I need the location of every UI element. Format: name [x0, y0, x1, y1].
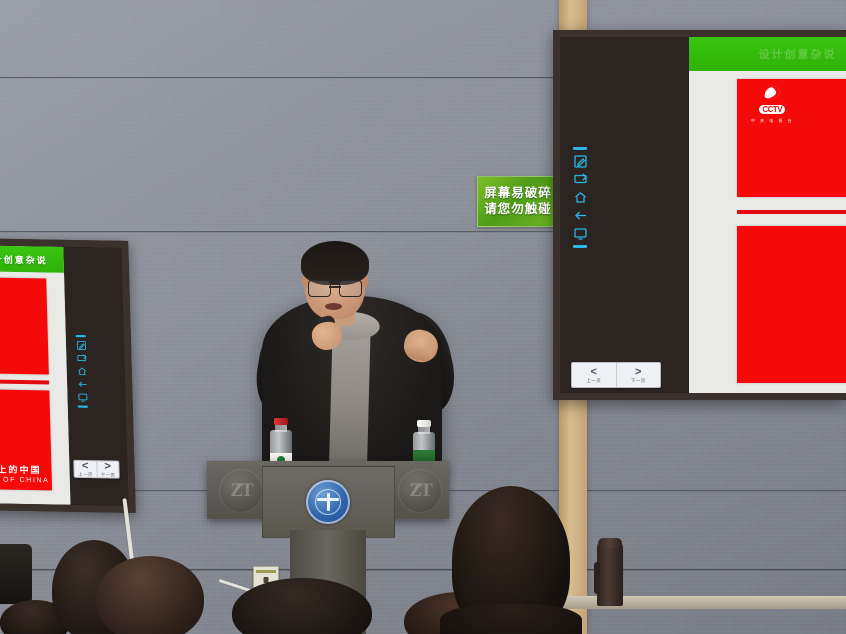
cctv-wordmark: CCTV [759, 105, 785, 114]
left-display[interactable]: 设计创意杂说 舌尖上的中国 A BITE OF CHINA [0, 238, 136, 513]
university-crest [306, 480, 350, 524]
warning-line-2: 请您勿触碰 [484, 203, 552, 216]
divider-top-icon [573, 147, 587, 150]
divider-bottom-icon [573, 245, 587, 248]
lecture-hall-photo: 屏幕易破碎 请您勿触碰 设计创意杂说 舌尖上的中国 A BITE OF CHIN… [0, 0, 846, 634]
cctv-logo: CCTV 中 央 电 视 台 [751, 87, 793, 124]
right-next-label: 下一页 [631, 378, 646, 384]
podium-logo-text: ZT [409, 480, 430, 502]
bottle-cap [274, 418, 288, 425]
cctv-moon-icon [763, 85, 781, 100]
left-prev-label: 上一页 [78, 471, 93, 477]
right-slide-title: 设计创意杂说 [759, 46, 837, 62]
back-arrow-icon[interactable] [77, 380, 87, 390]
left-footer-cn: 舌尖上的中国 [0, 462, 52, 476]
right-slide-body: CCTV 中 央 电 视 台 [689, 71, 846, 393]
glasses-lens [308, 280, 331, 297]
annotate-icon[interactable] [574, 155, 587, 168]
right-slide-header: 设计创意杂说 [689, 37, 846, 71]
crest-mark [317, 493, 339, 511]
glasses-lens [339, 280, 362, 297]
bottle-cap [417, 420, 431, 427]
left-slide-title: 设计创意杂说 [0, 252, 48, 266]
podium-logo-right: ZT [398, 469, 442, 513]
podium-logo-text: ZT [230, 480, 251, 502]
left-next-page-button[interactable]: > 下一页 [96, 461, 119, 477]
left-slide-header: 设计创意杂说 [0, 245, 64, 273]
next-arrow-icon: > [104, 461, 111, 471]
foreground-object [0, 544, 32, 604]
right-display-toolbar[interactable] [573, 147, 587, 248]
warning-line-1: 屏幕易破碎 [484, 187, 552, 200]
right-red-panel-bottom [737, 226, 846, 383]
left-footer-en: A BITE OF CHINA [0, 476, 52, 484]
podium-logo-left: ZT [219, 469, 263, 513]
left-red-panel-top [0, 277, 49, 374]
left-slide-footer: 舌尖上的中国 A BITE OF CHINA [0, 462, 52, 484]
left-slide: 设计创意杂说 舌尖上的中国 A BITE OF CHINA [0, 245, 70, 505]
audience-head [452, 486, 570, 634]
left-prev-page-button[interactable]: < 上一页 [74, 461, 96, 477]
screen-fragile-warning-sign: 屏幕易破碎 请您勿触碰 [477, 176, 559, 227]
right-red-rule [737, 210, 846, 214]
divider-top-icon [76, 335, 86, 337]
left-display-toolbar[interactable] [76, 335, 88, 408]
right-next-page-button[interactable]: > 下一页 [616, 363, 661, 387]
presenter-mouth [325, 303, 342, 310]
next-arrow-icon: > [635, 367, 641, 377]
left-page-nav[interactable]: < 上一页 > 下一页 [73, 460, 120, 479]
left-slide-body: 舌尖上的中国 A BITE OF CHINA [0, 271, 70, 505]
left-red-panel-bottom: 舌尖上的中国 A BITE OF CHINA [0, 389, 52, 490]
right-red-panel-top: CCTV 中 央 电 视 台 [737, 79, 846, 197]
presenter-hair [301, 241, 369, 285]
annotate-icon[interactable] [76, 341, 86, 351]
right-prev-page-button[interactable]: < 上一页 [572, 363, 616, 387]
presenter-head [305, 247, 365, 319]
whiteboard-icon[interactable] [77, 354, 87, 364]
display-source-icon[interactable] [78, 393, 88, 403]
back-arrow-icon[interactable] [574, 209, 587, 222]
left-red-rule [0, 379, 49, 385]
left-next-label: 下一页 [100, 472, 115, 478]
display-source-icon[interactable] [574, 227, 587, 240]
right-display[interactable]: 设计创意杂说 CCTV 中 央 电 视 台 [553, 30, 846, 400]
home-icon[interactable] [574, 191, 587, 204]
glasses-icon [308, 280, 362, 295]
glasses-bridge [329, 286, 341, 288]
home-icon[interactable] [77, 367, 87, 377]
thermos-flask [597, 542, 623, 606]
whiteboard-icon[interactable] [574, 173, 587, 186]
left-display-screen[interactable]: 设计创意杂说 舌尖上的中国 A BITE OF CHINA [0, 245, 129, 506]
outlet-slot [256, 570, 276, 573]
audience-head [96, 556, 204, 634]
prev-arrow-icon: < [591, 367, 597, 377]
right-slide: 设计创意杂说 CCTV 中 央 电 视 台 [689, 37, 846, 393]
divider-bottom-icon [78, 406, 88, 408]
right-display-screen[interactable]: 设计创意杂说 CCTV 中 央 电 视 台 [560, 37, 846, 393]
prev-arrow-icon: < [82, 460, 89, 470]
right-page-nav[interactable]: < 上一页 > 下一页 [571, 362, 661, 388]
right-prev-label: 上一页 [586, 378, 601, 384]
cctv-sub: 中 央 电 视 台 [751, 118, 793, 124]
